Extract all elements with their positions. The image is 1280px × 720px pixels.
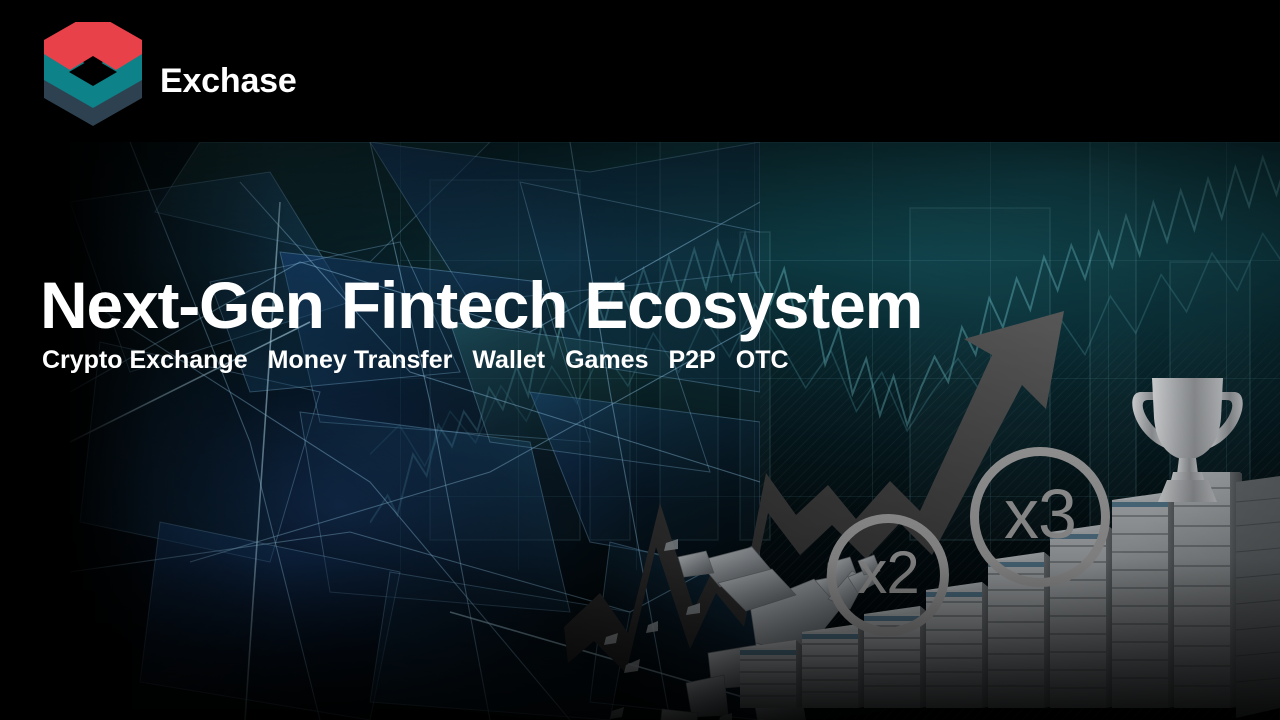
exchase-hexagon-logo-icon — [38, 22, 148, 140]
service-item-money-transfer: Money Transfer — [268, 348, 453, 373]
hero-text-block: Next-Gen Fintech Ecosystem Crypto Exchan… — [40, 272, 922, 373]
promo-banner: x2 x3 Next-Gen Fintech Ecosystem Crypto … — [0, 0, 1280, 720]
service-item-games: Games — [565, 348, 648, 373]
multiplier-badge-x3: x3 — [970, 447, 1110, 587]
multiplier-badge-x3-label: x3 — [1004, 474, 1076, 554]
trophy-icon — [1125, 362, 1250, 507]
page-title: Next-Gen Fintech Ecosystem — [40, 272, 922, 338]
services-list: Crypto Exchange Money Transfer Wallet Ga… — [42, 348, 922, 373]
brand-logo-group[interactable]: Exchase — [38, 22, 297, 140]
service-item-otc: OTC — [736, 348, 789, 373]
service-item-wallet: Wallet — [472, 348, 545, 373]
multiplier-badge-x2-label: x2 — [857, 538, 918, 607]
header-bar: Exchase — [0, 0, 1280, 142]
service-item-crypto-exchange: Crypto Exchange — [42, 348, 248, 373]
hero-image: x2 x3 — [70, 142, 1280, 720]
service-item-p2p: P2P — [668, 348, 715, 373]
multiplier-badge-x2: x2 — [827, 514, 949, 636]
brand-name: Exchase — [160, 64, 297, 98]
